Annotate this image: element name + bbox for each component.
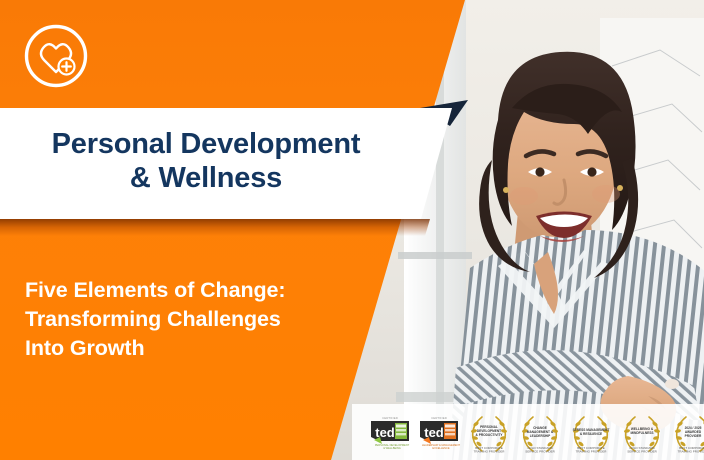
course-subtitle: Five Elements of Change: Transforming Ch… [25,276,337,362]
svg-text:LEADERSHIP: LEADERSHIP [530,434,551,438]
svg-text:SERVICE PROVIDER: SERVICE PROVIDER [627,449,657,453]
svg-text:& RESILIENCE: & RESILIENCE [580,432,602,436]
title-banner: Personal Development & Wellness [0,108,452,219]
ted-award-logo-1: CERTIFIED ted PERSONAL DEVELOPMENT & WEL… [368,412,412,452]
laurel-award-badge-5: 2024 / 2025 AWARDED PROVIDER BEST CORPOR… [670,411,704,453]
heart-plus-circle-icon [22,22,90,90]
svg-text:MINDFULNESS: MINDFULNESS [630,431,653,435]
ted-award-logo-2: CERTIFIED ted LEADERSHIP & MANAGEMENT EX… [417,412,461,452]
course-banner-card: Personal Development & Wellness Five Ele… [0,0,704,460]
svg-text:& PRODUCTIVITY: & PRODUCTIVITY [476,433,504,437]
svg-text:CERTIFIED: CERTIFIED [431,416,448,420]
page-title: Personal Development & Wellness [52,128,361,195]
svg-text:CERTIFIED: CERTIFIED [382,416,399,420]
svg-text:PROVIDER: PROVIDER [685,434,702,438]
svg-text:TRAINING PROVIDER: TRAINING PROVIDER [678,449,704,453]
laurel-award-badge-3: STRESS MANAGEMENT & RESILIENCE BEST CORP… [568,411,614,453]
laurel-award-badge-2: CHANGE MANAGEMENT & LEADERSHIP GOLD STAN… [517,411,563,453]
svg-text:TRAINING PROVIDER: TRAINING PROVIDER [474,449,506,453]
svg-text:ted: ted [375,425,395,440]
svg-text:EXCELLENCE: EXCELLENCE [432,446,449,450]
svg-text:TRAINING PROVIDER: TRAINING PROVIDER [576,449,608,453]
award-badge-strip: CERTIFIED ted PERSONAL DEVELOPMENT & WEL… [352,404,704,460]
laurel-award-badge-4: WELLBEING & MINDFULNESS GOLD STANDARD SE… [619,411,665,453]
svg-text:& WELLBEING: & WELLBEING [383,446,401,450]
svg-text:ted: ted [424,425,444,440]
laurel-award-badge-1: PERSONAL DEVELOPMENT & PRODUCTIVITY BEST… [466,411,512,453]
svg-text:SERVICE PROVIDER: SERVICE PROVIDER [525,449,555,453]
